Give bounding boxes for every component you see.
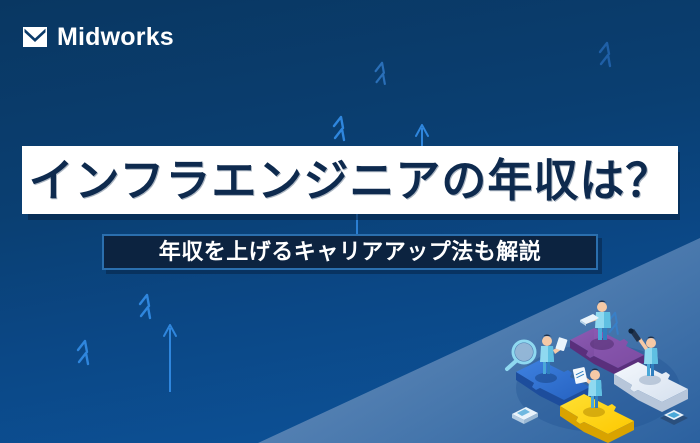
double-chevron-up-2: [136, 290, 160, 320]
double-chevron-up-1: [74, 336, 98, 366]
title-box: インフラエンジニアの年収は？: [22, 146, 678, 214]
double-chevron-up-3: [330, 112, 354, 142]
envelope-check-mark-icon: [22, 24, 48, 50]
page-title: インフラエンジニアの年収は？: [29, 158, 672, 203]
page-subtitle: 年収を上げるキャリアアップ法も解説: [159, 241, 542, 263]
double-chevron-up-4: [372, 58, 394, 86]
subtitle-box: 年収を上げるキャリアアップ法も解説: [102, 234, 598, 270]
isometric-puzzle-team-illustration: [498, 296, 698, 443]
brand-name: Midworks: [57, 25, 174, 50]
up-arrow-large-left: [160, 322, 180, 394]
brand-logo[interactable]: Midworks: [22, 24, 174, 50]
double-chevron-up-5: [596, 38, 620, 68]
hero-banner: Midworks: [0, 0, 700, 443]
